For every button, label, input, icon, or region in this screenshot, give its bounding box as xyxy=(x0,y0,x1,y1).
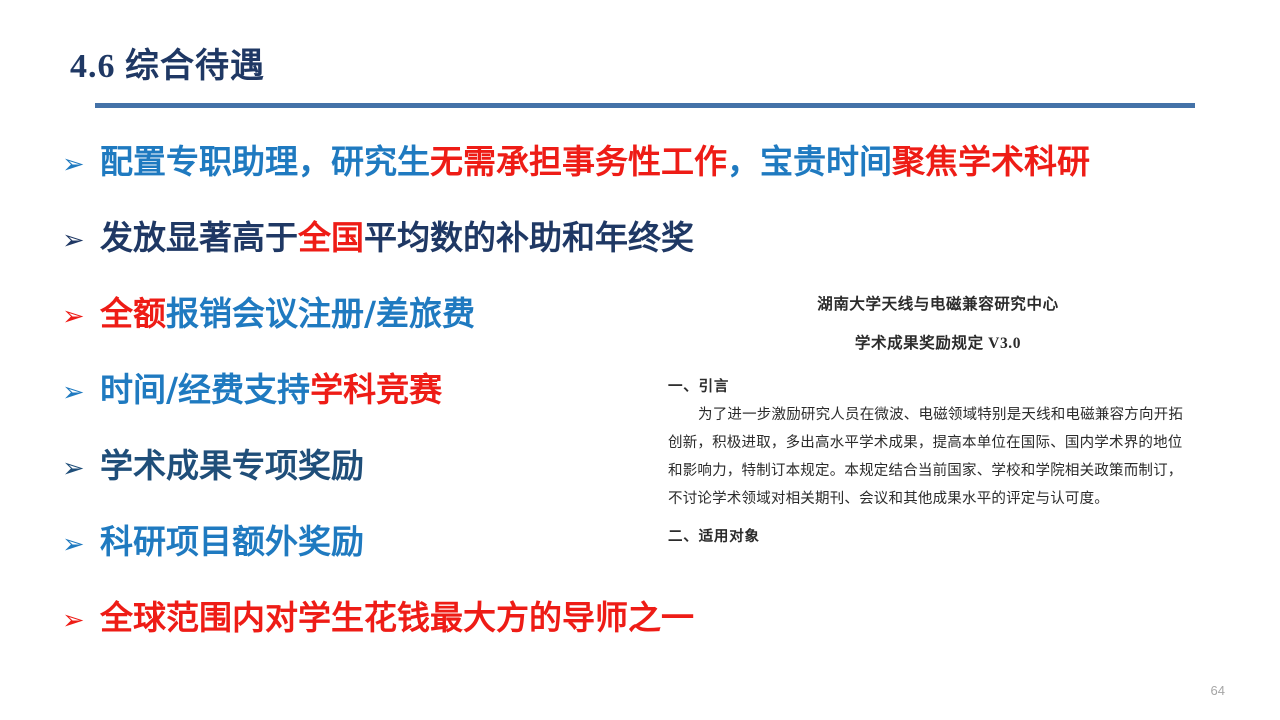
document-paragraph-line: 为了进一步激励研究人员在微波、电磁领域特别是天线和电磁兼容方向开拓 xyxy=(668,401,1208,429)
bullet-arrow-icon: ➢ xyxy=(62,303,100,330)
document-title-line-1: 湖南大学天线与电磁兼容研究中心 xyxy=(668,292,1208,314)
document-screenshot-image: 湖南大学天线与电磁兼容研究中心 学术成果奖励规定 V3.0 一、引言 为了进一步… xyxy=(668,288,1208,588)
bullet-text: 配置专职助理，研究生无需承担事务性工作，宝贵时间聚焦学术科研 xyxy=(100,144,1252,180)
bullet-text-segment: 全国 xyxy=(298,218,364,257)
bullet-text-segment: 学术成果专项奖励 xyxy=(100,446,364,485)
bullet-text-segment: 平均数的补助和年终奖 xyxy=(364,218,694,257)
bullet-text-segment: 报销会议注册/差旅费 xyxy=(166,294,475,333)
bullet-text-segment: 全球范围内对学生花钱最大方的导师之一 xyxy=(100,598,694,637)
bullet-item: ➢配置专职助理，研究生无需承担事务性工作，宝贵时间聚焦学术科研 xyxy=(62,144,1252,220)
bullet-text-segment: 聚焦学术科研 xyxy=(892,142,1090,181)
document-paragraph-line: 不讨论学术领域对相关期刊、会议和其他成果水平的评定与认可度。 xyxy=(668,485,1208,513)
document-heading-scope: 二、适用对象 xyxy=(668,525,1208,546)
bullet-text-segment: ，宝贵时间 xyxy=(727,142,892,181)
title-divider-rule xyxy=(95,103,1195,108)
document-title-line-2: 学术成果奖励规定 V3.0 xyxy=(668,331,1208,353)
bullet-text: 全球范围内对学生花钱最大方的导师之一 xyxy=(100,600,1252,636)
document-paragraph-line: 和影响力，特制订本规定。本规定结合当前国家、学校和学院相关政策而制订， xyxy=(668,457,1208,485)
bullet-arrow-icon: ➢ xyxy=(62,151,100,178)
bullet-arrow-icon: ➢ xyxy=(62,607,100,634)
page-title: 4.6 综合待遇 xyxy=(70,38,265,87)
bullet-item: ➢全球范围内对学生花钱最大方的导师之一 xyxy=(62,600,1252,676)
document-heading-introduction: 一、引言 xyxy=(668,375,1208,396)
bullet-text-segment: 全额 xyxy=(100,294,166,333)
bullet-text-segment: 科研项目额外奖励 xyxy=(100,522,364,561)
bullet-arrow-icon: ➢ xyxy=(62,455,100,482)
bullet-text: 发放显著高于全国平均数的补助和年终奖 xyxy=(100,220,1252,256)
document-body-paragraph: 为了进一步激励研究人员在微波、电磁领域特别是天线和电磁兼容方向开拓创新，积极进取… xyxy=(668,401,1208,513)
bullet-arrow-icon: ➢ xyxy=(62,531,100,558)
bullet-text-segment: 发放显著高于 xyxy=(100,218,298,257)
document-paragraph-line: 创新，积极进取，多出高水平学术成果，提高本单位在国际、国内学术界的地位 xyxy=(668,429,1208,457)
bullet-arrow-icon: ➢ xyxy=(62,379,100,406)
bullet-text-segment: 时间/经费支持 xyxy=(100,370,310,409)
bullet-text-segment: 无需承担事务性工作 xyxy=(430,142,727,181)
slide-page-number: 64 xyxy=(1211,683,1225,698)
bullet-text-segment: 配置专职助理，研究生 xyxy=(100,142,430,181)
bullet-arrow-icon: ➢ xyxy=(62,227,100,254)
bullet-item: ➢发放显著高于全国平均数的补助和年终奖 xyxy=(62,220,1252,296)
bullet-text-segment: 学科竞赛 xyxy=(310,370,442,409)
slide-canvas: { "colors": { "title_navy": "#1f3864", "… xyxy=(0,0,1280,720)
